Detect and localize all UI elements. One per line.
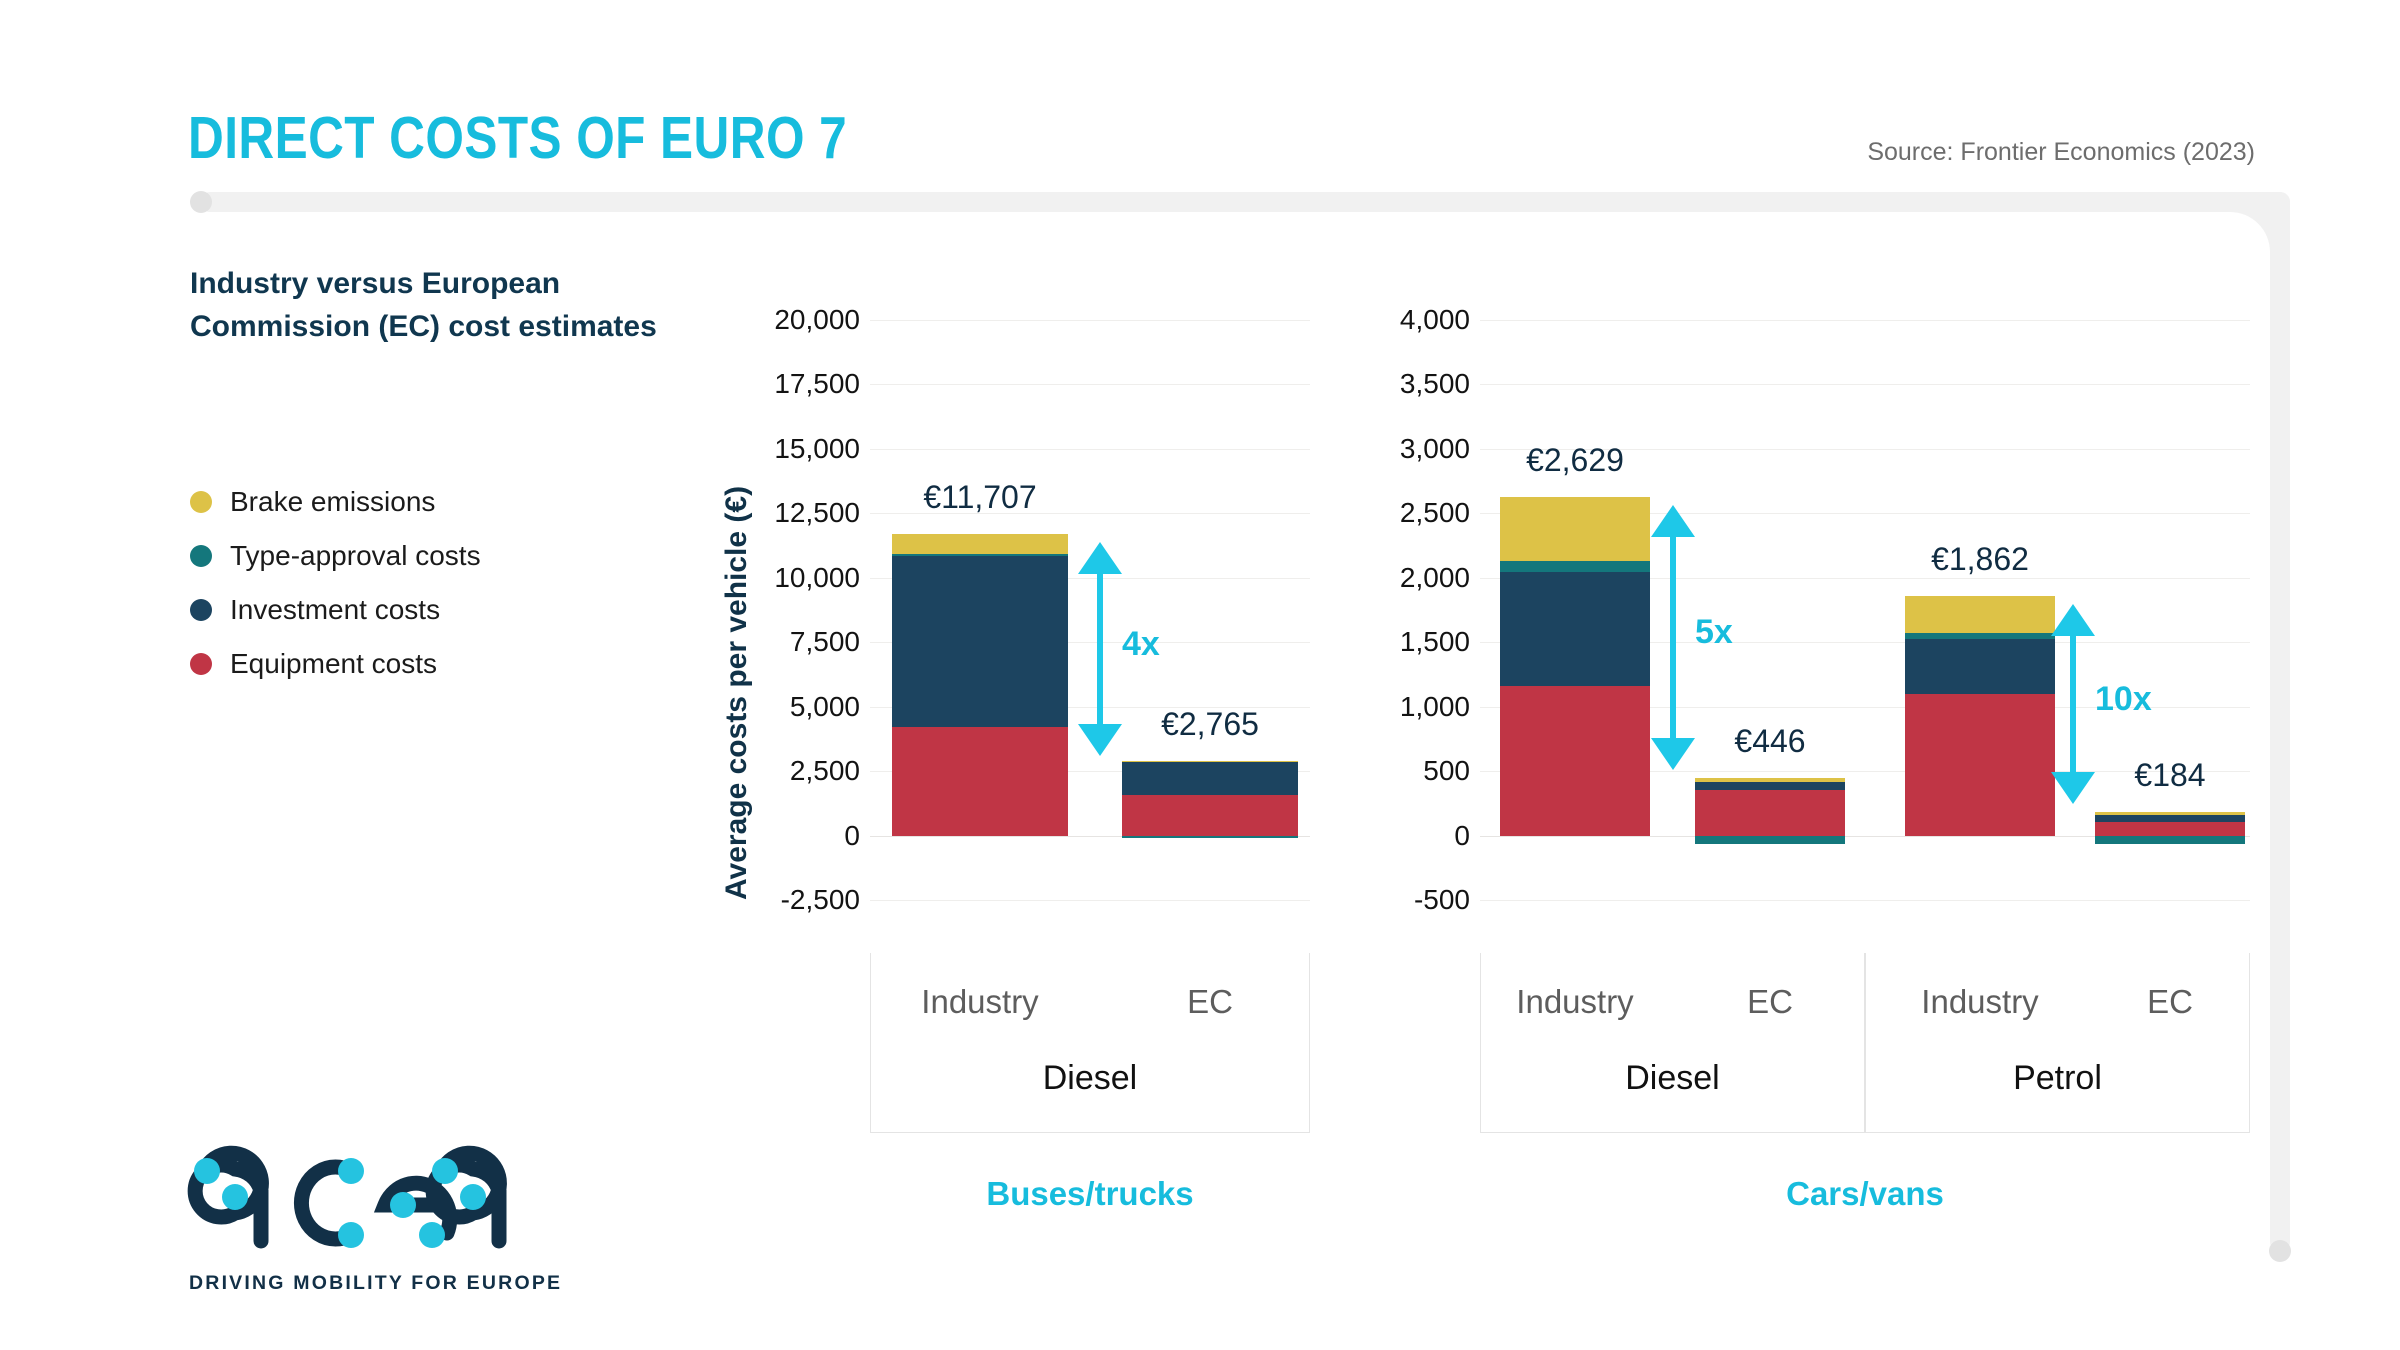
bar-segment xyxy=(892,554,1068,557)
y-axis-tick-label: 2,500 xyxy=(1400,497,1470,529)
gridline xyxy=(870,900,1310,901)
frame-line-vertical xyxy=(2270,192,2290,1252)
y-axis-tick-label: 2,500 xyxy=(790,755,860,787)
plot-area: €11,707€2,765 4x xyxy=(870,320,1310,900)
x-axis-panel-label: Buses/trucks xyxy=(870,1175,1310,1213)
page-title: DIRECT COSTS OF EURO 7 xyxy=(188,104,847,172)
comparison-arrow xyxy=(1649,505,1697,770)
bar-segment xyxy=(2095,812,2245,815)
bar-value-label: €1,862 xyxy=(1931,541,2029,578)
acea-wordmark-icon xyxy=(185,1135,525,1263)
bar-segment xyxy=(1905,633,2055,639)
bar-stack xyxy=(1695,320,1845,900)
arrow-shaft xyxy=(2070,616,2076,792)
x-axis-group-band xyxy=(1480,953,1865,1133)
legend-label: Equipment costs xyxy=(230,648,437,680)
bar-value-label: €2,765 xyxy=(1161,706,1259,743)
legend-swatch-icon xyxy=(190,491,212,513)
legend-item-equipment-costs: Equipment costs xyxy=(190,637,481,691)
y-axis-tick-label: 15,000 xyxy=(774,433,860,465)
x-axis-category-label: Industry xyxy=(870,983,1090,1021)
y-axis-tick-label: 1,000 xyxy=(1400,691,1470,723)
bar-segment xyxy=(892,556,1068,727)
legend-label: Investment costs xyxy=(230,594,440,626)
bar-stack xyxy=(892,320,1068,900)
arrow-multiplier-label: 5x xyxy=(1695,613,1733,652)
legend-item-type-approval-costs: Type-approval costs xyxy=(190,529,481,583)
bar-segment xyxy=(1695,790,1845,835)
x-axis-category-label: Industry xyxy=(1870,983,2090,1021)
arrow-head-up xyxy=(1078,542,1122,574)
y-axis-tick-label: 12,500 xyxy=(774,497,860,529)
bar-stack xyxy=(1905,320,2055,900)
y-axis-tick-label: 20,000 xyxy=(774,304,860,336)
acea-tagline: DRIVING MOBILITY FOR EUROPE xyxy=(189,1272,562,1295)
y-axis-tick-label: 17,500 xyxy=(774,368,860,400)
bar-segment xyxy=(1122,762,1298,795)
bar-segment xyxy=(1122,836,1298,839)
bar-value-label: €184 xyxy=(2134,757,2205,794)
bar-segment xyxy=(1122,795,1298,836)
bar-segment xyxy=(1905,596,2055,633)
y-axis-tick-label: 1,500 xyxy=(1400,626,1470,658)
x-axis-category-label: EC xyxy=(2060,983,2280,1021)
arrow-multiplier-label: 4x xyxy=(1122,625,1160,664)
y-axis-tick-label: 0 xyxy=(844,820,860,852)
legend-label: Type-approval costs xyxy=(230,540,481,572)
legend-item-brake-emissions: Brake emissions xyxy=(190,475,481,529)
bar-segment xyxy=(1905,694,2055,835)
legend-swatch-icon xyxy=(190,653,212,675)
x-axis-cars-vans: IndustryECIndustryECDieselPetrolCars/van… xyxy=(1480,953,2250,1243)
chart-buses-trucks: Average costs per vehicle (€) 20,00017,5… xyxy=(690,320,1310,900)
bar-segment xyxy=(1695,836,1845,844)
x-axis-group-band xyxy=(1865,953,2250,1133)
y-axis-tick-label: 7,500 xyxy=(790,626,860,658)
plot-area: €2,629€446€1,862€184 5x 10x xyxy=(1480,320,2250,900)
y-axis-tick-label: -500 xyxy=(1414,884,1470,916)
x-axis-buses-trucks: IndustryECDieselBuses/trucks xyxy=(870,953,1310,1243)
arrow-shaft xyxy=(1670,517,1676,758)
arrow-head-down xyxy=(1078,724,1122,756)
bar-segment xyxy=(892,534,1068,554)
y-axis-tick-label: 3,000 xyxy=(1400,433,1470,465)
y-axis-ticks: 4,0003,5003,0002,5002,0001,5001,0005000-… xyxy=(1330,320,1470,900)
bar-segment xyxy=(1695,782,1845,791)
legend-swatch-icon xyxy=(190,545,212,567)
y-axis-tick-label: 10,000 xyxy=(774,562,860,594)
bar-value-label: €2,629 xyxy=(1526,442,1624,479)
bar-segment xyxy=(1500,497,1650,561)
gridline xyxy=(1480,900,2250,901)
y-axis-tick-label: 4,000 xyxy=(1400,304,1470,336)
x-axis-fuel-label: Diesel xyxy=(870,1059,1310,1098)
chart-cars-vans: 4,0003,5003,0002,5002,0001,5001,0005000-… xyxy=(1330,320,2250,900)
bar-value-label: €11,707 xyxy=(923,479,1036,516)
bar-segment xyxy=(1500,572,1650,686)
legend-item-investment-costs: Investment costs xyxy=(190,583,481,637)
arrow-head-down xyxy=(1651,738,1695,770)
y-axis-tick-label: 2,000 xyxy=(1400,562,1470,594)
arrow-head-down xyxy=(2051,772,2095,804)
y-axis-tick-label: 500 xyxy=(1423,755,1470,787)
y-axis-tick-label: 5,000 xyxy=(790,691,860,723)
legend-swatch-icon xyxy=(190,599,212,621)
bar-segment xyxy=(1905,639,2055,695)
x-axis-panel-label: Cars/vans xyxy=(1480,1175,2250,1213)
acea-logo: DRIVING MOBILITY FOR EUROPE xyxy=(185,1135,562,1295)
bar-segment xyxy=(1500,686,1650,835)
arrow-head-up xyxy=(2051,604,2095,636)
arrow-shaft xyxy=(1097,554,1103,745)
x-axis-category-label: EC xyxy=(1100,983,1320,1021)
y-axis-ticks: 20,00017,50015,00012,50010,0007,5005,000… xyxy=(690,320,860,900)
y-axis-tick-label: 3,500 xyxy=(1400,368,1470,400)
x-axis-category-label: Industry xyxy=(1465,983,1685,1021)
bar-segment xyxy=(2095,822,2245,836)
bar-segment xyxy=(2095,836,2245,844)
bar-segment xyxy=(2095,815,2245,822)
y-axis-tick-label: -2,500 xyxy=(781,884,860,916)
arrow-head-up xyxy=(1651,505,1695,537)
x-axis-group-band xyxy=(870,953,1310,1133)
x-axis-fuel-label: Diesel xyxy=(1480,1059,1865,1098)
bar-segment xyxy=(1695,778,1845,781)
bar-segment xyxy=(1500,561,1650,572)
source-credit: Source: Frontier Economics (2023) xyxy=(1867,138,2255,167)
bar-segment xyxy=(892,727,1068,836)
x-axis-fuel-label: Petrol xyxy=(1865,1059,2250,1098)
bar-stack xyxy=(1122,320,1298,900)
x-axis-category-label: EC xyxy=(1660,983,1880,1021)
bar-stack xyxy=(1500,320,1650,900)
frame-dot-bottom xyxy=(2269,1240,2291,1262)
bar-value-label: €446 xyxy=(1734,723,1805,760)
arrow-multiplier-label: 10x xyxy=(2095,680,2152,719)
y-axis-tick-label: 0 xyxy=(1454,820,1470,852)
legend-label: Brake emissions xyxy=(230,486,435,518)
chart-subtitle: Industry versus European Commission (EC)… xyxy=(190,263,710,348)
bar-stack xyxy=(2095,320,2245,900)
comparison-arrow xyxy=(2049,604,2097,804)
frame-dot-left xyxy=(190,191,212,213)
legend: Brake emissions Type-approval costs Inve… xyxy=(190,475,481,691)
frame-line-horizontal xyxy=(200,192,2290,212)
comparison-arrow xyxy=(1076,542,1124,757)
